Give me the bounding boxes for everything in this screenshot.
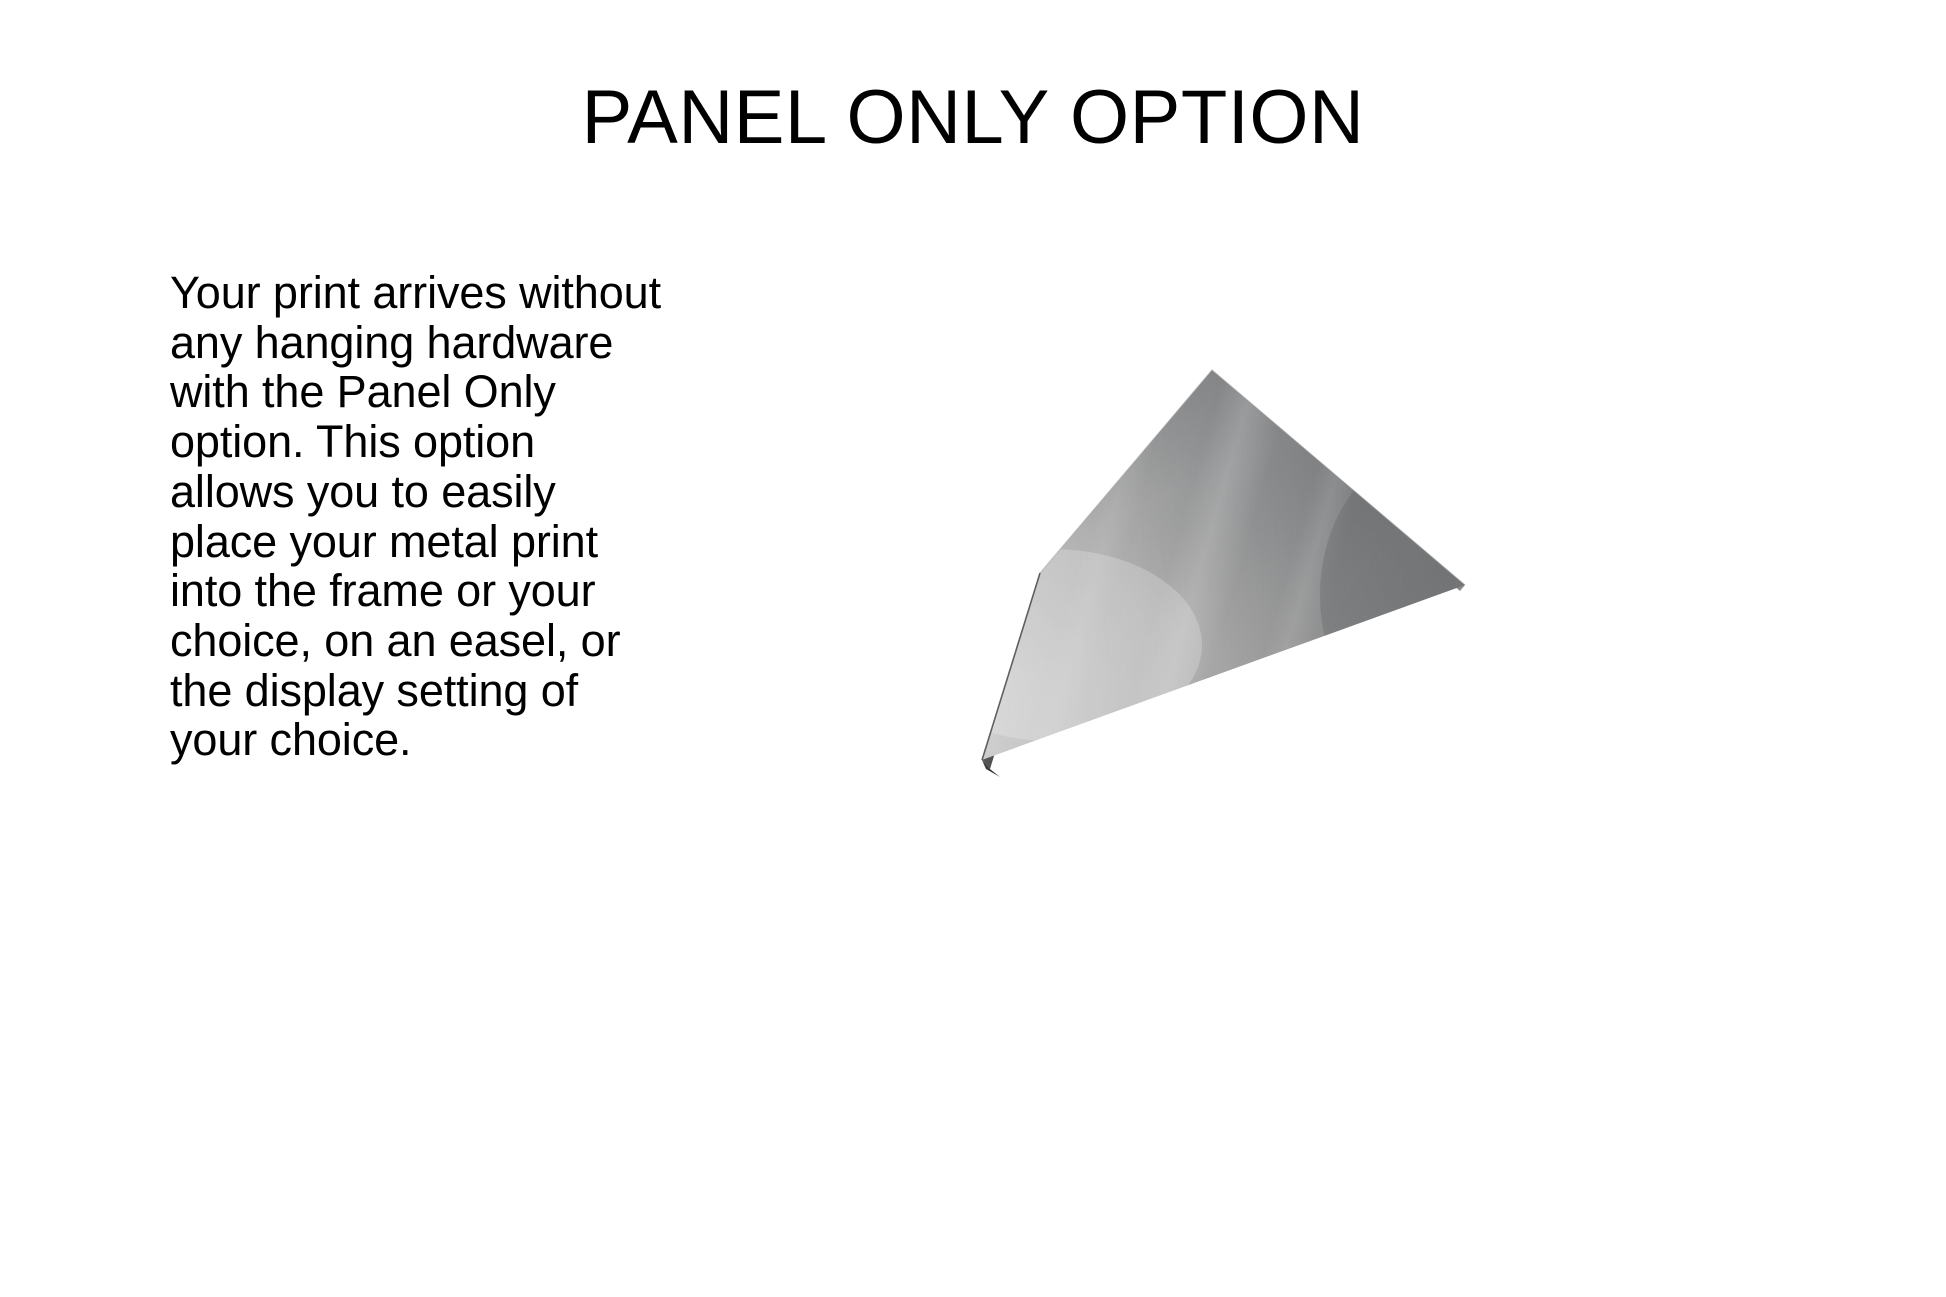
metal-panel-image: [700, 345, 1520, 815]
panel-face: [902, 353, 1560, 776]
metal-panel-illustration: [700, 345, 1520, 815]
body-line: your choice.: [170, 715, 640, 765]
body-line: with the Panel Only: [170, 367, 640, 417]
body-paragraph: Your print arrives without any hanging h…: [170, 268, 640, 765]
body-line: any hanging hardware: [170, 318, 640, 368]
page-title: PANEL ONLY OPTION: [0, 78, 1946, 158]
body-line: allows you to easily: [170, 467, 640, 517]
body-line: the display setting of: [170, 666, 640, 716]
body-line: into the frame or your: [170, 566, 640, 616]
body-line: option. This option: [170, 417, 640, 467]
body-line: choice, on an easel, or: [170, 616, 640, 666]
body-line: Your print arrives without: [170, 268, 640, 318]
body-line: place your metal print: [170, 517, 640, 567]
presentation-slide: PANEL ONLY OPTION Your print arrives wit…: [0, 0, 1946, 1297]
